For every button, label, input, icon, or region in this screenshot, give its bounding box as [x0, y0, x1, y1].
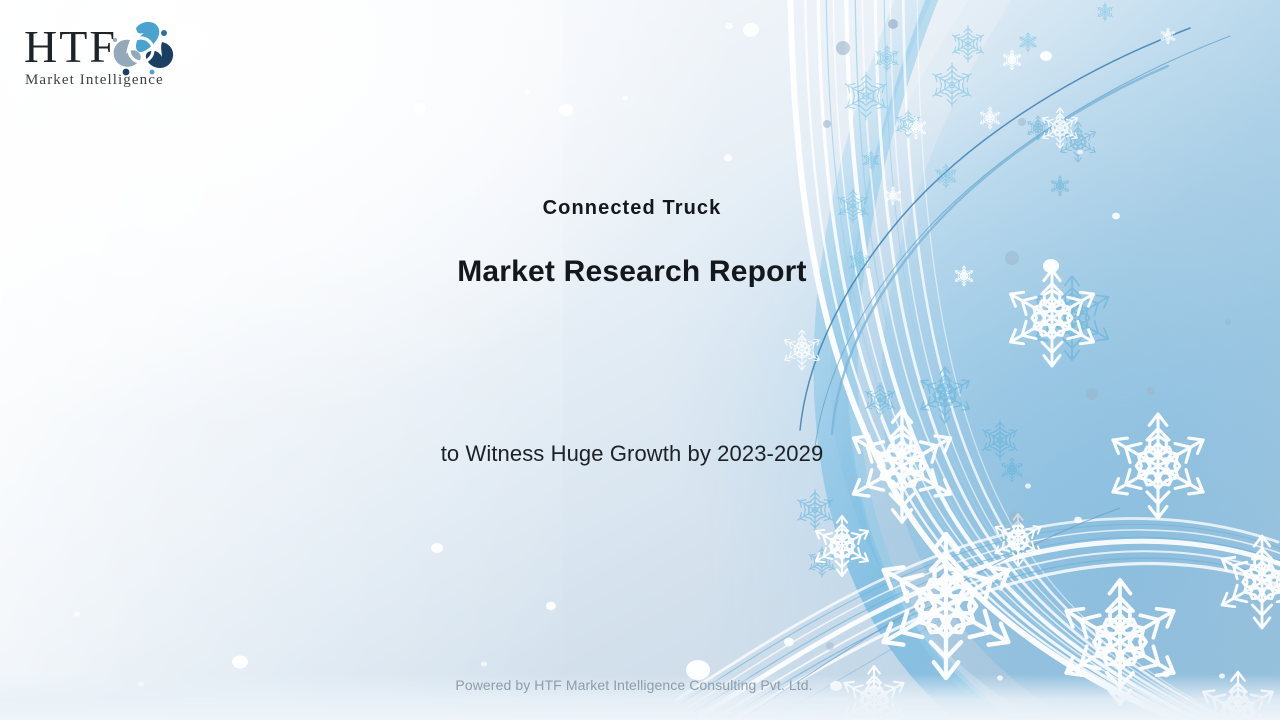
page-title: Market Research Report [0, 255, 1264, 289]
presentation-slide: HTF Market Intelligence Connected Truck [0, 0, 1280, 720]
slide-footer-credit: Powered by HTF Market Intelligence Consu… [0, 677, 1268, 693]
slide-text-block: Connected Truck Market Research Report t… [0, 0, 1280, 720]
report-growth-subtitle: to Witness Huge Growth by 2023-2029 [0, 441, 1264, 467]
report-subject-kicker: Connected Truck [0, 197, 1264, 220]
